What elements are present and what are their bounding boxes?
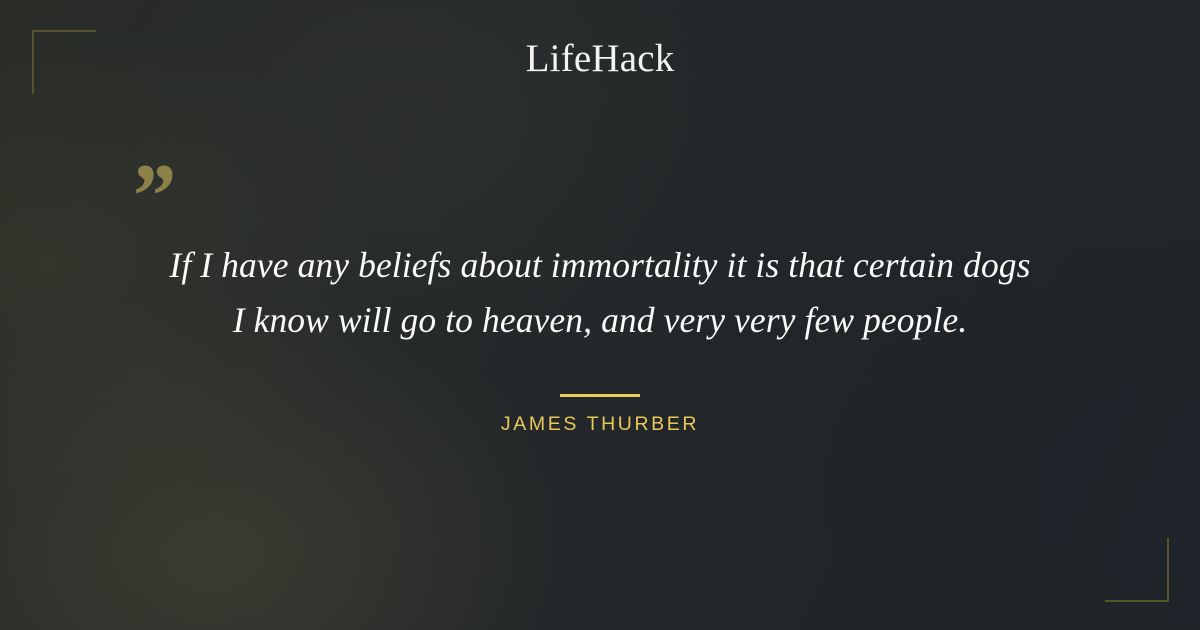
- quote-card: LifeHack ” If I have any beliefs about i…: [0, 0, 1200, 630]
- divider-container: [0, 384, 1200, 402]
- quote-line: I know will go to heaven, and very very …: [60, 293, 1140, 348]
- corner-bracket-bottom-right-icon: [1105, 538, 1169, 602]
- quote-line: If I have any beliefs about immortality …: [60, 238, 1140, 293]
- brand-logo: LifeHack: [0, 38, 1200, 81]
- divider-rule: [560, 394, 640, 397]
- quote-author: JAMES THURBER: [0, 413, 1200, 436]
- quote-mark-icon: ”: [128, 150, 174, 242]
- quote-text: If I have any beliefs about immortality …: [60, 238, 1140, 348]
